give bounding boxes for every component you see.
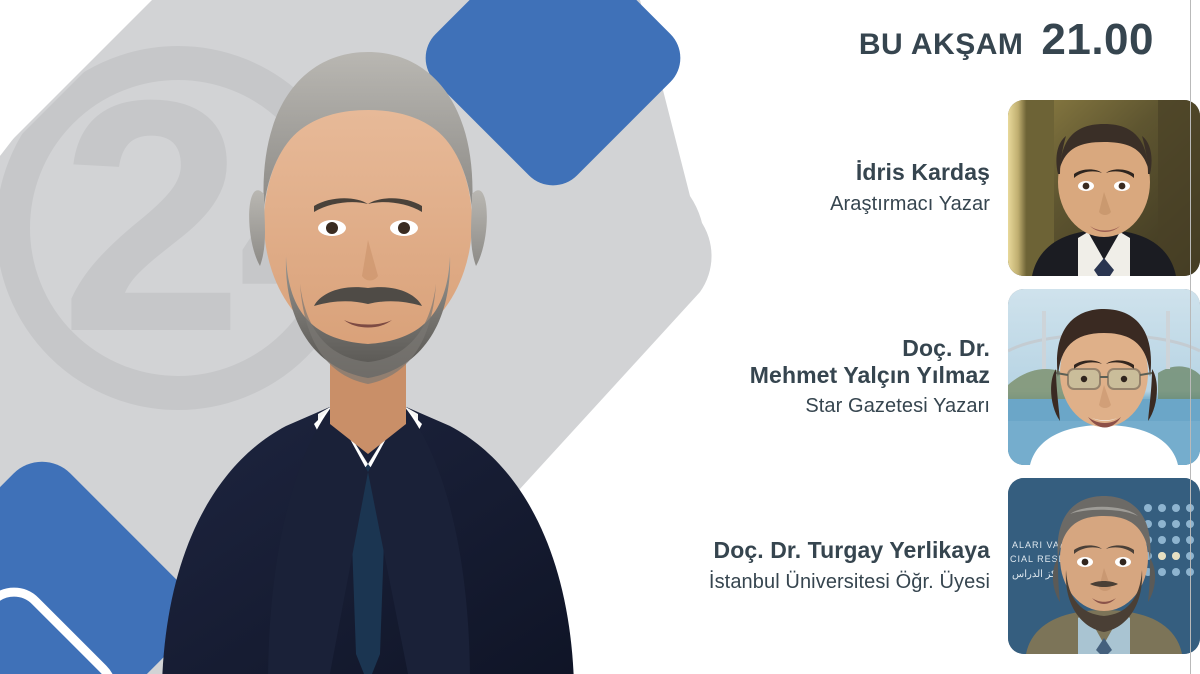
- guest-name: İdris Kardaş: [830, 159, 990, 186]
- guest-photo: ALARI VAKI CIAL RESEAR كز الدراس: [1008, 478, 1200, 654]
- guest-text: Doç. Dr. Mehmet Yalçın Yılmaz Star Gazet…: [750, 335, 990, 419]
- guest-name: Doç. Dr. Turgay Yerlikaya: [709, 537, 990, 564]
- guest-item: İdris Kardaş Araştırmacı Yazar: [620, 100, 1200, 276]
- airtime-headline: BU AKŞAM 21.00: [859, 18, 1154, 62]
- airtime-label: BU AKŞAM: [859, 28, 1024, 62]
- guest-photo: [1008, 100, 1200, 276]
- promo-graphic: 24: [0, 0, 1200, 674]
- backdrop-text-line3: كز الدراس: [1012, 569, 1056, 580]
- guest-role: İstanbul Üniversitesi Öğr. Üyesi: [709, 569, 990, 595]
- mehmet-yalcin-yilmaz-photo: [1008, 289, 1200, 465]
- right-column: BU AKŞAM 21.00 İdris Kardaş Araştırmacı …: [620, 0, 1200, 674]
- guest-list: İdris Kardaş Araştırmacı Yazar: [620, 100, 1200, 667]
- guest-text: İdris Kardaş Araştırmacı Yazar: [830, 159, 990, 216]
- airtime-value: 21.00: [1041, 18, 1154, 62]
- guest-name-line1: Doç. Dr.: [750, 335, 990, 362]
- host-portrait: [118, 0, 618, 674]
- idris-kardas-photo: [1008, 100, 1200, 276]
- guest-role: Araştırmacı Yazar: [830, 191, 990, 217]
- guest-role: Star Gazetesi Yazarı: [750, 393, 990, 419]
- guest-item: Doç. Dr. Turgay Yerlikaya İstanbul Ünive…: [620, 478, 1200, 654]
- guest-item: Doç. Dr. Mehmet Yalçın Yılmaz Star Gazet…: [620, 289, 1200, 465]
- guest-text: Doç. Dr. Turgay Yerlikaya İstanbul Ünive…: [709, 537, 990, 594]
- guest-photo: [1008, 289, 1200, 465]
- turgay-yerlikaya-photo: ALARI VAKI CIAL RESEAR كز الدراس: [1008, 478, 1200, 654]
- guest-name-line2: Mehmet Yalçın Yılmaz: [750, 362, 990, 389]
- right-edge-divider: [1190, 0, 1191, 674]
